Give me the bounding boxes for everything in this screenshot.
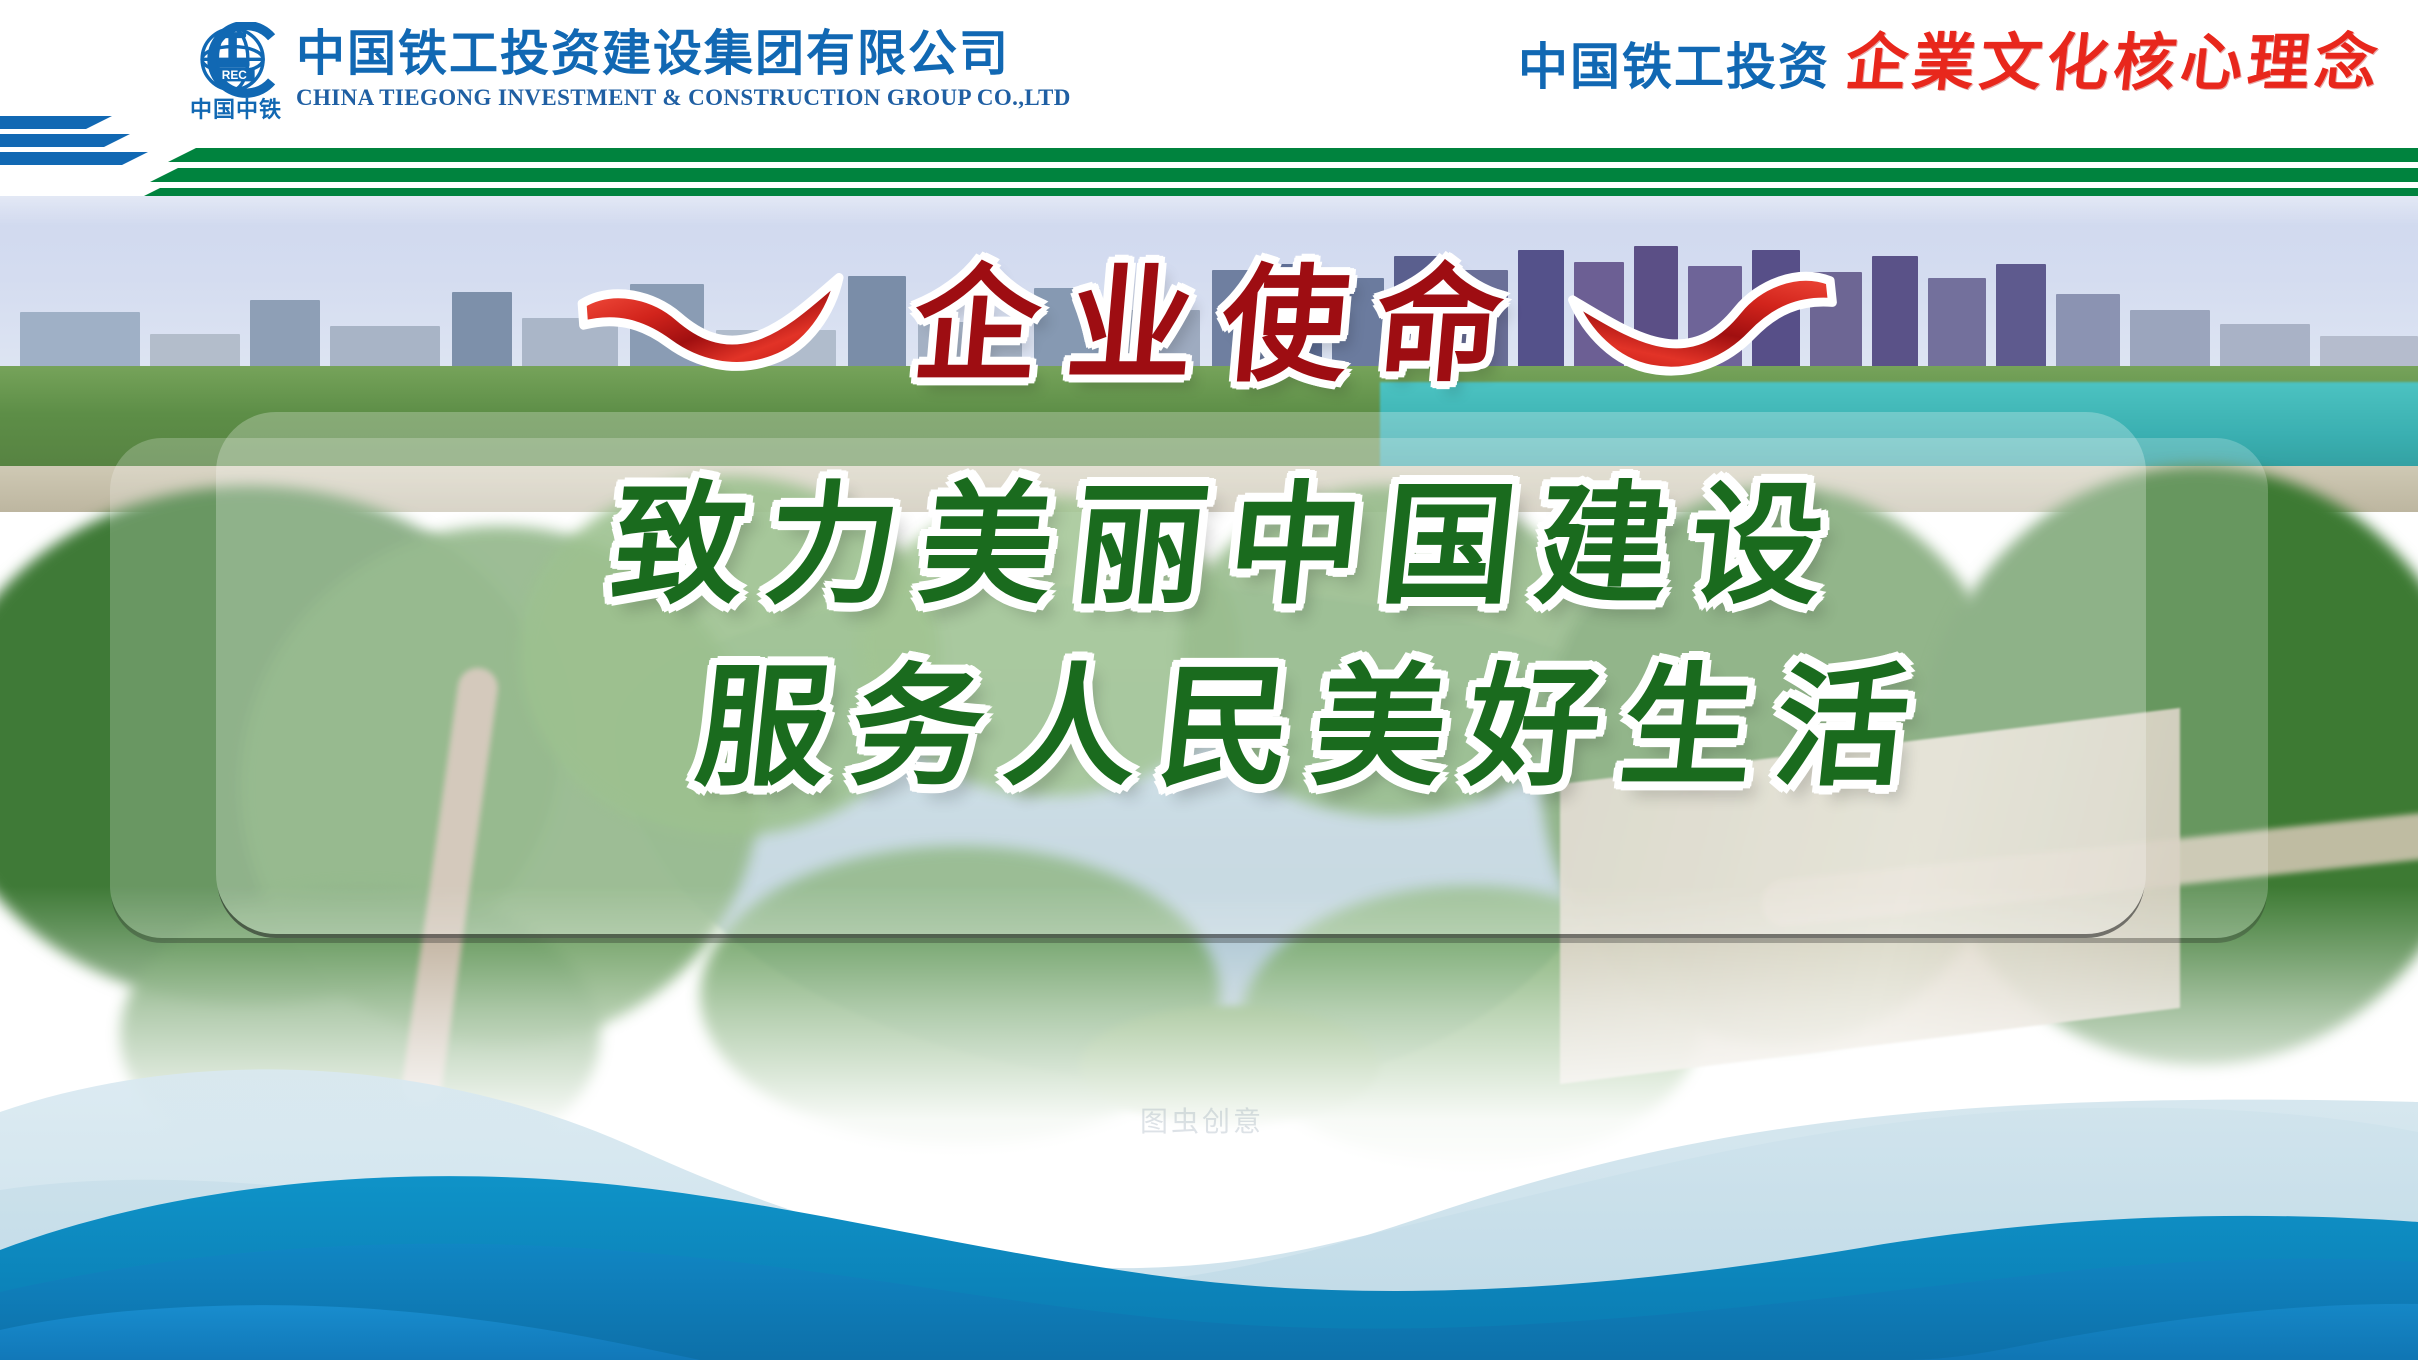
company-name-en: CHINA TIEGONG INVESTMENT & CONSTRUCTION … xyxy=(296,84,1071,112)
svg-text:REC: REC xyxy=(222,68,247,82)
brand-text-block: 中国铁工投资建设集团有限公司 CHINA TIEGONG INVESTMENT … xyxy=(296,22,1071,112)
green-stripe xyxy=(178,168,2418,182)
mission-banner: 企业使命 xyxy=(0,250,2418,400)
page-header: REC 中国中铁 中国铁工投资建设集团有限公司 CHINA TIEGONG IN… xyxy=(0,0,2418,196)
wave-decoration xyxy=(0,1040,2418,1360)
green-stripe xyxy=(160,188,2418,196)
slogan-line-2: 服务人民美好生活 xyxy=(480,652,1938,804)
red-ribbon-icon xyxy=(1559,256,1847,394)
red-ribbon-icon xyxy=(573,260,858,389)
blue-stripe xyxy=(0,134,104,147)
green-stripe xyxy=(196,148,2418,162)
crec-globe-logo-icon: REC xyxy=(193,22,279,100)
header-right-title: 企業文化核心理念 xyxy=(1842,28,2385,98)
header-right-prefix: 中国铁工投资 xyxy=(1518,37,1830,97)
watermark: 图虫创意 xyxy=(1140,1100,1264,1140)
company-name-cn: 中国铁工投资建设集团有限公司 xyxy=(296,26,1071,82)
logo-mark-label: 中国中铁 xyxy=(190,98,282,122)
mission-title: 企业使命 xyxy=(882,260,1535,390)
blue-stripe xyxy=(0,116,86,129)
logo-block: REC 中国中铁 xyxy=(186,22,286,122)
blue-stripe xyxy=(0,152,122,165)
slogan-block: 致力美丽中国建设 服务人民美好生活 xyxy=(0,470,2418,804)
brand-lockup: REC 中国中铁 中国铁工投资建设集团有限公司 CHINA TIEGONG IN… xyxy=(186,22,1071,122)
header-right-headline: 中国铁工投资 企業文化核心理念 xyxy=(1518,28,2382,98)
slogan-line-1: 致力美丽中国建设 xyxy=(565,470,1853,622)
poster-canvas: 企业使命 致力美丽中国建设 服务人民美好生活 图虫创意 xyxy=(0,0,2418,1360)
